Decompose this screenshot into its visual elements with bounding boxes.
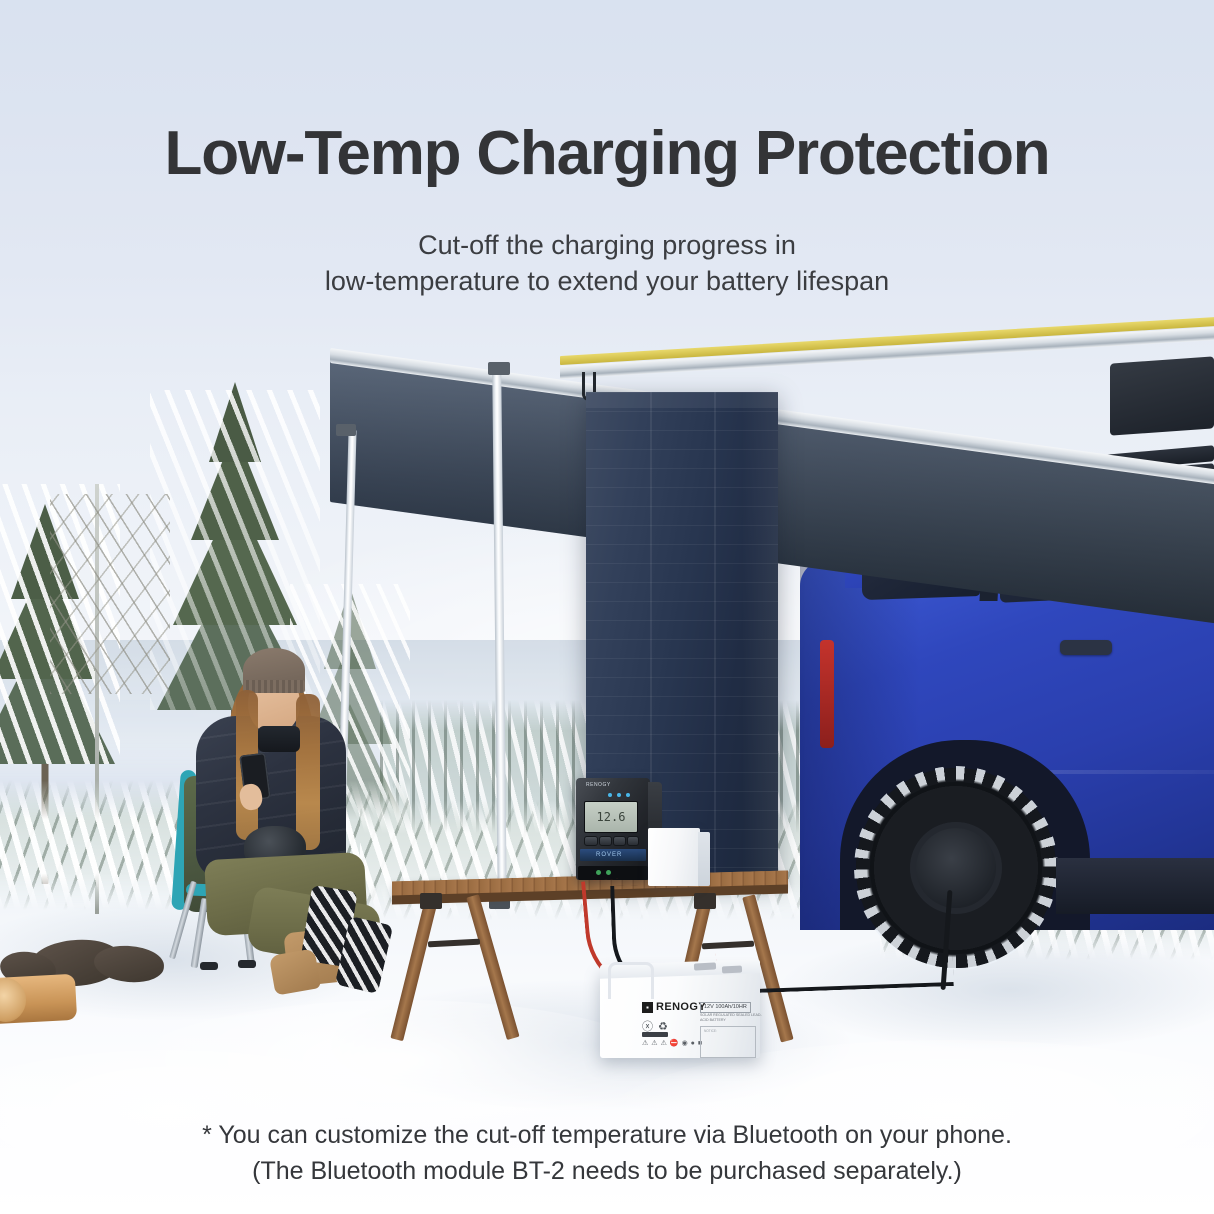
subtitle: Cut-off the charging progress in low-tem… [0, 228, 1214, 299]
awning-pole-cap [336, 424, 356, 436]
acid-icon: ● [691, 1040, 695, 1047]
eye-protection-icon: ◉ [682, 1040, 688, 1047]
controller-led-icon [626, 793, 630, 797]
controller-terminal-led-icon [606, 870, 611, 875]
aspen-branches [50, 494, 170, 694]
solar-panel-seam [714, 392, 716, 882]
vehicle-underbody [1056, 858, 1214, 914]
camper-hair-strand [296, 694, 320, 850]
battery-barcode [642, 1032, 668, 1037]
warning-icon: ⚠ [642, 1040, 648, 1047]
battery-terminal [722, 965, 742, 973]
vehicle-door-handle [1060, 640, 1112, 655]
controller-button[interactable] [613, 836, 626, 846]
vehicle-tail-light [820, 640, 834, 748]
subtitle-line-2: low-temperature to extend your battery l… [0, 264, 1214, 300]
controller-button[interactable] [599, 836, 612, 846]
controller-brand-label: RENOGY [586, 783, 611, 788]
battery-brand-logo: RENOGY [642, 1002, 706, 1013]
footnote-line-1: * You can customize the cut-off temperat… [0, 1118, 1214, 1154]
controller-lcd-value: 12.6 [585, 802, 637, 823]
warning-icon: ⚠ [651, 1040, 657, 1047]
battery-brand-text: RENOGY [656, 1002, 706, 1013]
controller-terminal-led-icon [596, 870, 601, 875]
controller-model-label: ROVER [596, 852, 622, 858]
renogy-mark-icon [642, 1002, 653, 1013]
table-leg-bracket [420, 893, 442, 909]
camper-jacket-collar [258, 726, 300, 752]
battery-handle [608, 962, 654, 999]
no-flame-icon: ⛔ [670, 1040, 679, 1047]
awning-pole-cap [488, 362, 510, 375]
footnote: * You can customize the cut-off temperat… [0, 1118, 1214, 1189]
poster-root: RENOGY 12.6 ROVER [0, 0, 1214, 1214]
controller-button[interactable] [627, 836, 639, 846]
battery-type-label: SOLAR REGULATED SEALED LEAD-ACID BATTERY [700, 1013, 770, 1022]
awning-mount-bracket [1110, 356, 1214, 435]
controller-led-icon [608, 793, 612, 797]
chair-foot [200, 962, 218, 970]
footnote-line-2: (The Bluetooth module BT-2 needs to be p… [0, 1154, 1214, 1190]
battery-terminal [694, 962, 716, 970]
solar-panel-glare [742, 392, 778, 882]
controller-button[interactable] [584, 836, 598, 846]
camper-boot [269, 948, 321, 995]
battery-warning-row: ⚠ ⚠ ⚠ ⛔ ◉ ● ■ [642, 1040, 702, 1047]
battery-notice-block: NOTICE: [700, 1026, 756, 1058]
page-title: Low-Temp Charging Protection [0, 118, 1214, 189]
controller-lcd-display: 12.6 [584, 801, 638, 833]
warning-icon: ⚠ [661, 1040, 667, 1047]
subtitle-line-1: Cut-off the charging progress in [0, 228, 1214, 264]
chair-foot [238, 960, 256, 968]
battery-spec-label: 12V 100Ah/10HR [700, 1002, 751, 1013]
controller-led-icon [617, 793, 621, 797]
